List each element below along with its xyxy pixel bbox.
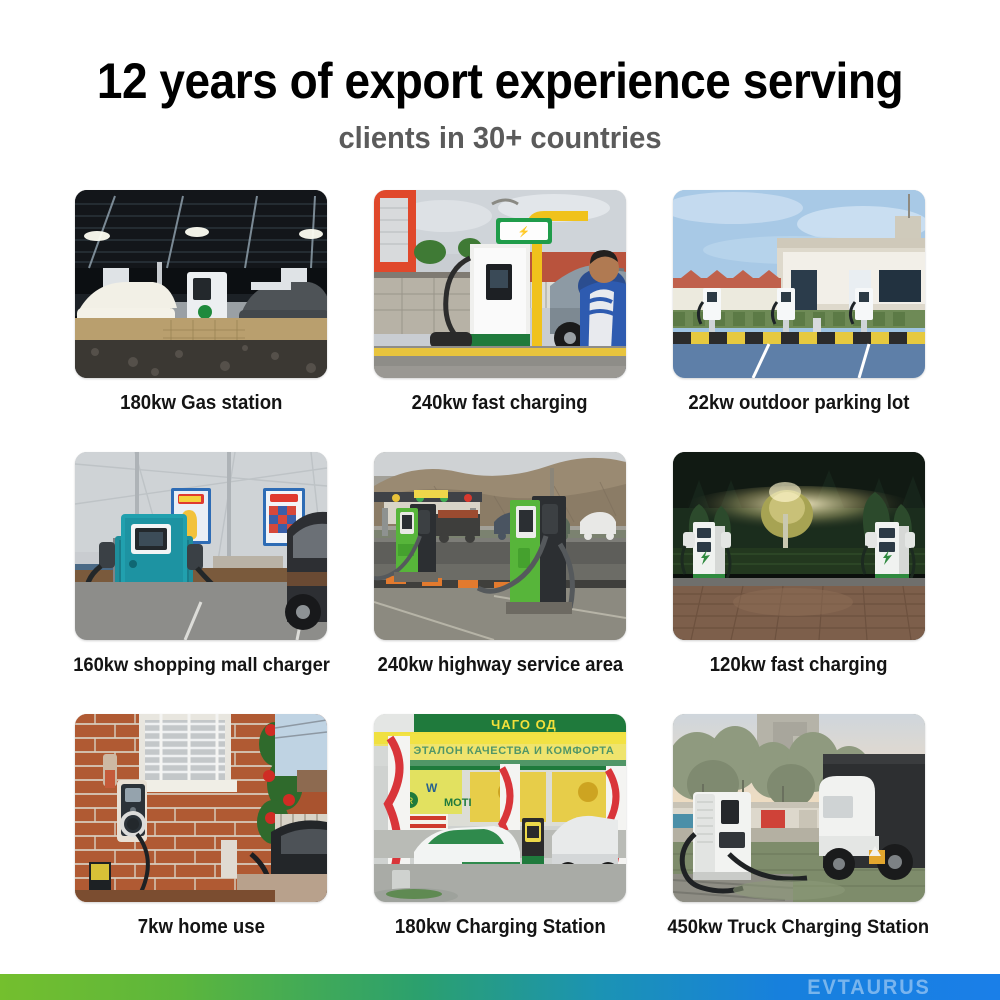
photo-night-park-charging[interactable] xyxy=(673,452,925,640)
page-subtitle: clients in 30+ countries xyxy=(30,120,970,156)
photo-petrol-station-canopy[interactable]: ЧАГО ОД ЭТАЛОН КАЧЕСТВА И КОМФОРТА W R xyxy=(374,714,626,902)
photo-home-wallbox-brick[interactable] xyxy=(75,714,327,902)
photo-icon: ЧАГО ОД ЭТАЛОН КАЧЕСТВА И КОМФОРТА W R xyxy=(374,714,626,902)
svg-text:ЧАГО ОД: ЧАГО ОД xyxy=(491,717,557,732)
photo-night-gas-station[interactable] xyxy=(75,190,327,378)
gallery-item[interactable]: 7kw home use xyxy=(62,714,341,976)
gallery-item[interactable]: 450kw Truck Charging Station xyxy=(659,714,938,976)
gallery-item[interactable]: 22kw outdoor parking lot xyxy=(659,190,938,452)
gallery-item-caption: 240kw highway service area xyxy=(377,654,622,677)
svg-text:MOTI: MOTI xyxy=(444,797,472,809)
photo-icon xyxy=(75,452,327,640)
photo-icon: ⚡ xyxy=(374,190,626,378)
page-title: 12 years of export experience serving xyxy=(40,54,960,108)
photo-icon xyxy=(75,190,327,378)
svg-text:W: W xyxy=(426,781,438,795)
gallery-item-caption: 120kw fast charging xyxy=(710,654,888,677)
gallery-item-caption: 22kw outdoor parking lot xyxy=(688,392,909,415)
gallery-item-caption: 7kw home use xyxy=(138,916,265,939)
photo-outdoor-parking-lot[interactable] xyxy=(673,190,925,378)
svg-text:⚡: ⚡ xyxy=(518,225,530,238)
gallery-item-caption: 180kw Charging Station xyxy=(395,916,606,939)
photo-highway-service-area[interactable] xyxy=(374,452,626,640)
gallery-item-caption: 180kw Gas station xyxy=(120,392,282,415)
gallery-item[interactable]: 240kw highway service area xyxy=(361,452,640,714)
photo-shopping-mall-charger[interactable] xyxy=(75,452,327,640)
promo-page: 12 years of export experience serving cl… xyxy=(0,0,1000,1000)
heading-block: 12 years of export experience serving cl… xyxy=(0,0,1000,156)
gallery-item[interactable]: ЧАГО ОД ЭТАЛОН КАЧЕСТВА И КОМФОРТА W R xyxy=(361,714,640,976)
gallery-grid: 180kw Gas station xyxy=(0,190,1000,976)
photo-icon xyxy=(374,452,626,640)
photo-icon xyxy=(673,190,925,378)
gallery-item[interactable]: 180kw Gas station xyxy=(62,190,341,452)
photo-truck-charging-dusk[interactable] xyxy=(673,714,925,902)
footer-brand-bar: EVTAURUS xyxy=(0,974,1000,1000)
brand-wordmark: EVTAURUS xyxy=(807,977,930,998)
gallery-item-caption: 240kw fast charging xyxy=(412,392,588,415)
gallery-item-caption: 160kw shopping mall charger xyxy=(73,654,330,677)
photo-icon xyxy=(75,714,327,902)
photo-street-fast-charger[interactable]: ⚡ xyxy=(374,190,626,378)
gallery-item-caption: 450kw Truck Charging Station xyxy=(668,916,930,939)
gallery-item[interactable]: 160kw shopping mall charger xyxy=(62,452,341,714)
photo-icon xyxy=(673,714,925,902)
gallery-item[interactable]: 120kw fast charging xyxy=(659,452,938,714)
photo-icon xyxy=(673,452,925,640)
gallery-item[interactable]: ⚡ xyxy=(361,190,640,452)
